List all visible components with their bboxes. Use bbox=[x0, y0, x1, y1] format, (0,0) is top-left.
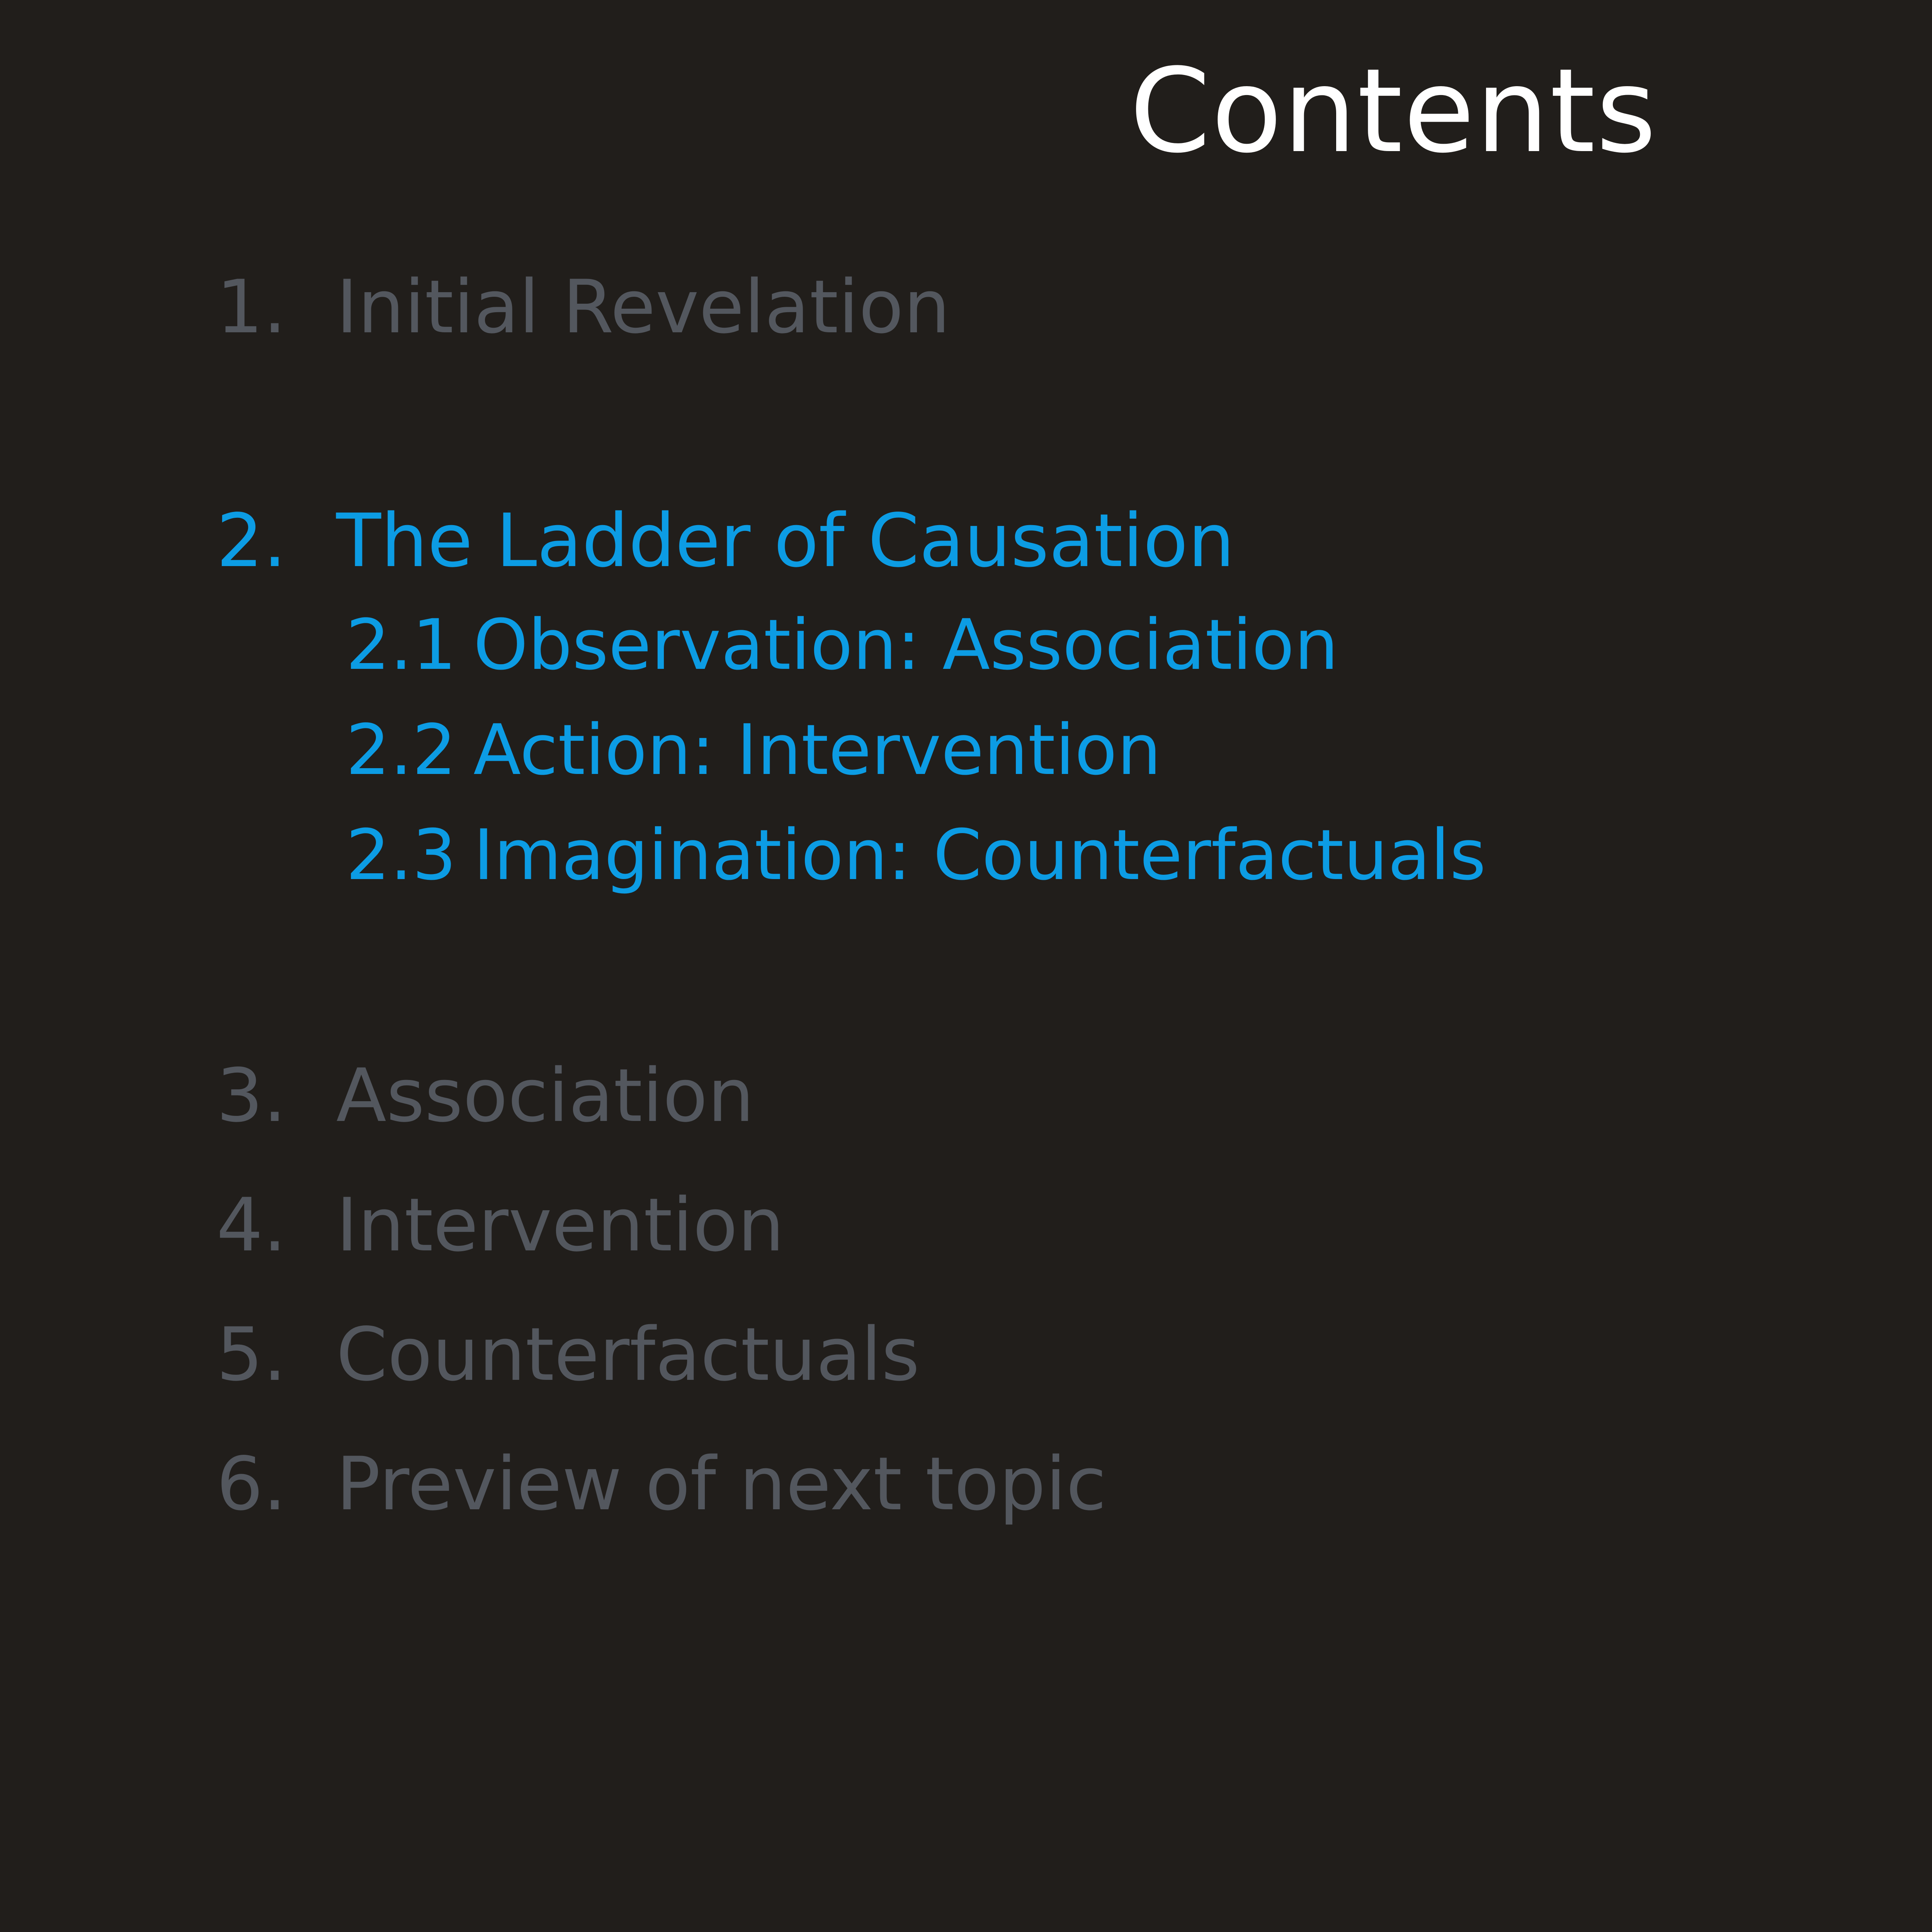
toc-subsection-2-3[interactable]: 2.3 Imagination: Counterfactuals bbox=[0, 821, 1932, 926]
toc-section-number: 3. bbox=[216, 1059, 336, 1133]
toc-subsection-2-2[interactable]: 2.2 Action: Intervention bbox=[0, 716, 1932, 821]
toc-subsection-label: Observation: Association bbox=[473, 611, 1338, 680]
toc-subsection-number: 2.1 bbox=[346, 611, 473, 680]
toc-section-number: 5. bbox=[216, 1318, 336, 1391]
toc-section-1[interactable]: 1. Initial Revelation bbox=[0, 270, 1932, 377]
toc-section-label: Association bbox=[336, 1059, 754, 1133]
toc-section-3[interactable]: 3. Association bbox=[0, 1059, 1932, 1165]
slide-canvas: Contents 1. Initial Revelation 2. The La… bbox=[0, 0, 1932, 1932]
toc-section-number: 6. bbox=[216, 1447, 336, 1521]
toc-subsection-number: 2.2 bbox=[346, 716, 473, 785]
toc-section-number: 4. bbox=[216, 1189, 336, 1262]
spacer bbox=[0, 1295, 1932, 1318]
toc-section-2[interactable]: 2. The Ladder of Causation bbox=[0, 504, 1932, 611]
toc-subsection-number: 2.3 bbox=[346, 821, 473, 890]
toc-subsection-label: Action: Intervention bbox=[473, 716, 1161, 785]
toc-section-number: 1. bbox=[216, 270, 336, 344]
spacer bbox=[0, 1165, 1932, 1189]
toc-section-5[interactable]: 5. Counterfactuals bbox=[0, 1318, 1932, 1424]
toc-section-label: The Ladder of Causation bbox=[336, 504, 1235, 578]
toc-section-number: 2. bbox=[216, 504, 336, 578]
spacer bbox=[0, 377, 1932, 504]
toc-subsection-label: Imagination: Counterfactuals bbox=[473, 821, 1486, 890]
toc-section-6[interactable]: 6. Preview of next topic bbox=[0, 1447, 1932, 1554]
toc-section-label: Intervention bbox=[336, 1189, 784, 1262]
page-title: Contents bbox=[0, 50, 1932, 172]
toc-section-label: Counterfactuals bbox=[336, 1318, 920, 1391]
table-of-contents: 1. Initial Revelation 2. The Ladder of C… bbox=[0, 270, 1932, 1554]
toc-subsection-2-1[interactable]: 2.1 Observation: Association bbox=[0, 611, 1932, 716]
toc-section-label: Initial Revelation bbox=[336, 270, 950, 344]
toc-section-4[interactable]: 4. Intervention bbox=[0, 1189, 1932, 1295]
spacer bbox=[0, 926, 1932, 1059]
toc-section-label: Preview of next topic bbox=[336, 1447, 1106, 1521]
